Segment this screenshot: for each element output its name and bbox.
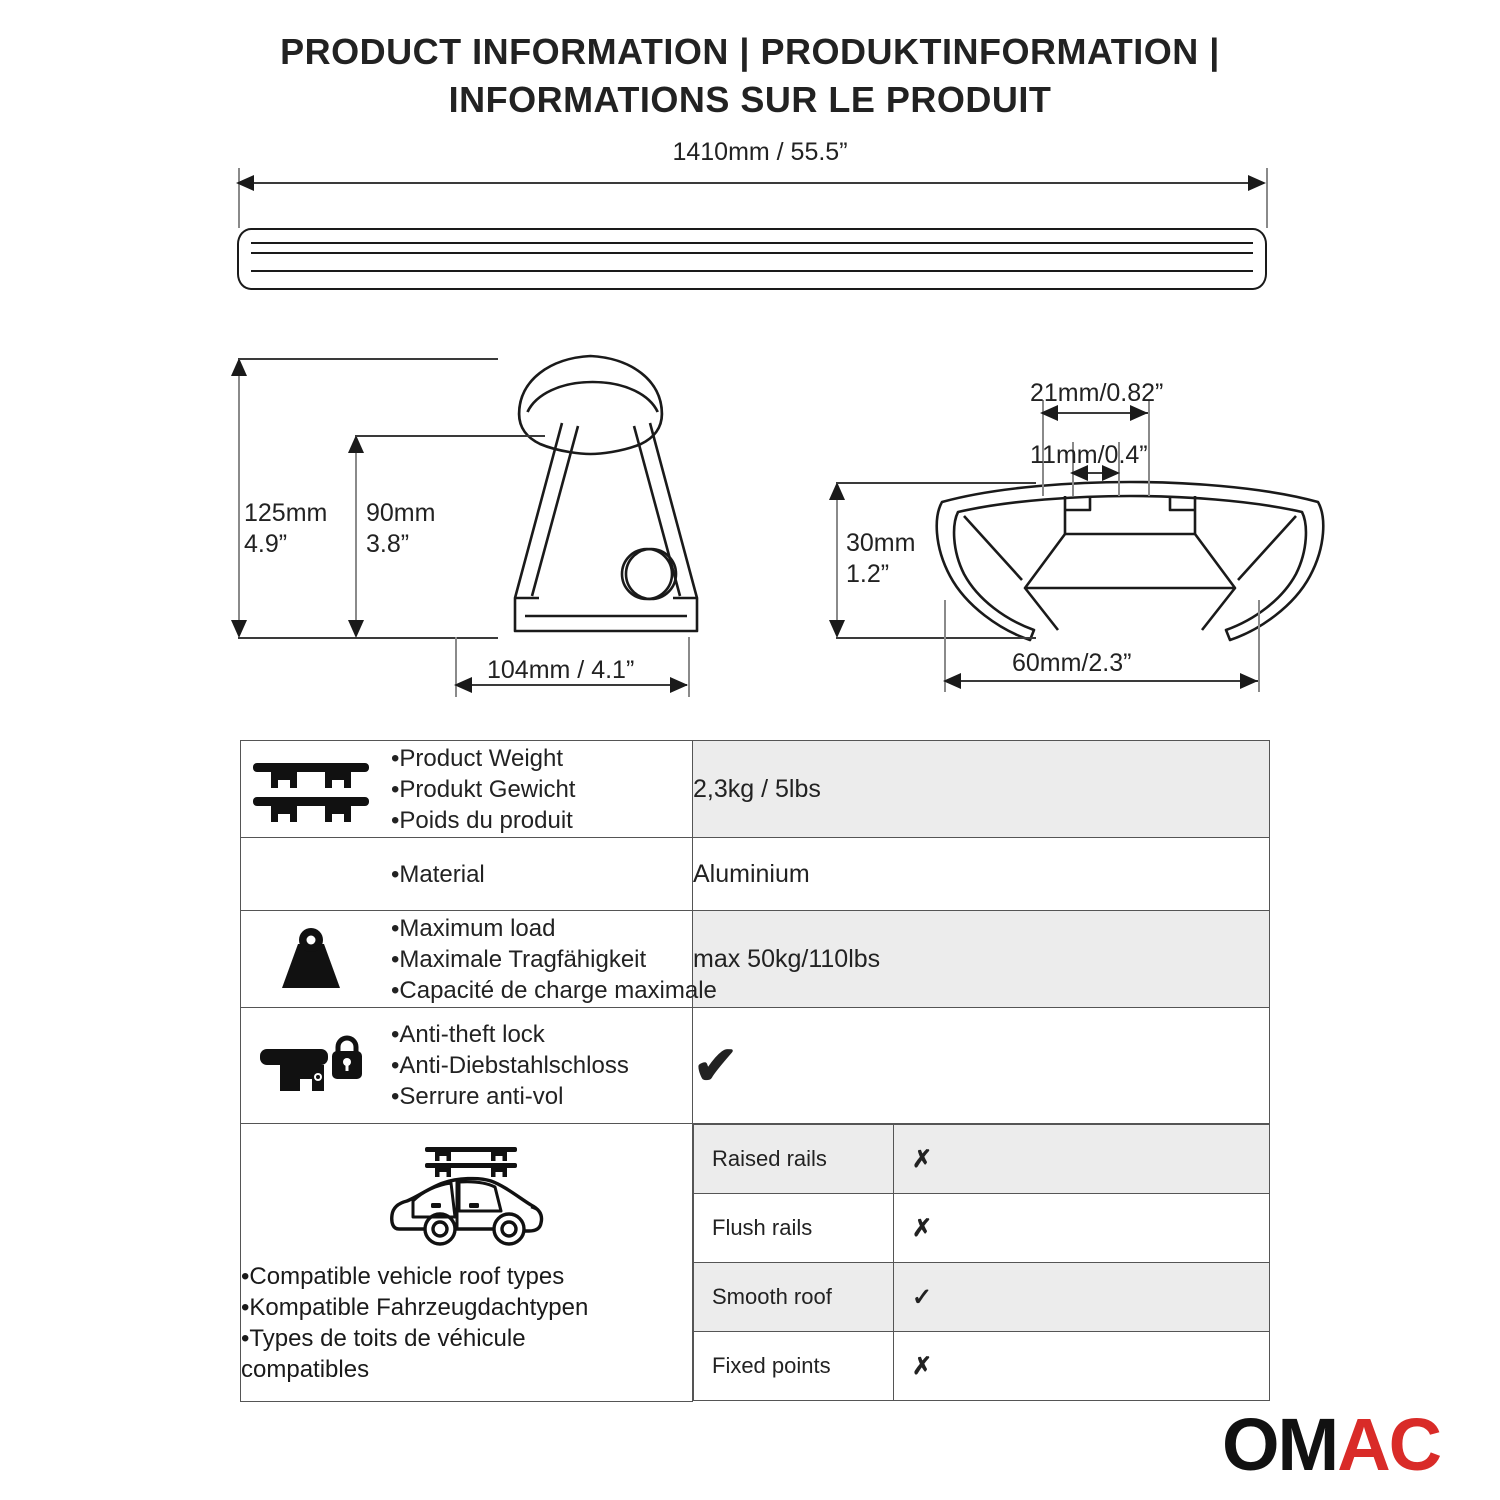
bullet-line: •Serrure anti-vol (391, 1081, 629, 1112)
foot-height-total-label: 125mm 4.9” (244, 498, 327, 560)
roof-type-name: Fixed points (694, 1332, 894, 1401)
roof-type-name: Flush rails (694, 1194, 894, 1263)
bullet-line: compatibles (241, 1354, 692, 1385)
material-value-cell: Aluminium (693, 838, 1270, 911)
antitheft-value-cell: ✔ (693, 1008, 1270, 1124)
foot-inner-extension (355, 435, 545, 437)
maxload-label-cell: •Maximum load •Maximale Tragfähigkeit •C… (241, 911, 693, 1008)
roof-type-row: Smooth roof ✓ (694, 1263, 1270, 1332)
foot-width-extension-right (688, 637, 690, 697)
arrow-right-icon (670, 677, 688, 693)
profile-top-extension (836, 482, 1036, 484)
lock-icon (241, 1035, 381, 1097)
bar-groove-3 (251, 270, 1253, 272)
profile-width-dimension-line (946, 680, 1258, 682)
length-dimension-label: 1410mm / 55.5” (560, 138, 960, 167)
foot-height-dimension-line (238, 360, 240, 632)
table-row: •Maximum load •Maximale Tragfähigkeit •C… (241, 911, 1270, 1008)
arrow-left-icon (943, 673, 961, 689)
table-row: •Product Weight •Produkt Gewicht •Poids … (241, 741, 1270, 838)
antitheft-bullets: •Anti-theft lock •Anti-Diebstahlschloss … (391, 1019, 629, 1112)
bullet-line: •Types de toits de véhicule (241, 1323, 692, 1354)
profile-height-label: 30mm 1.2” (846, 528, 915, 590)
roof-type-support-icon: ✗ (894, 1125, 1270, 1194)
arrow-left-icon (454, 677, 472, 693)
page-title: PRODUCT INFORMATION | PRODUKTINFORMATION… (250, 28, 1250, 124)
roof-types-table: Raised rails ✗ Flush rails ✗ Smooth roof… (693, 1124, 1270, 1401)
foot-top-extension (238, 358, 498, 360)
slot-inner-label: 11mm/0.4” (1030, 440, 1148, 471)
omac-logo: OMAC (1222, 1408, 1440, 1482)
bullet-line: •Compatible vehicle roof types (241, 1261, 692, 1292)
table-row: •Material Aluminium (241, 838, 1270, 911)
bullet-line: •Poids du produit (391, 805, 575, 836)
arrow-left-icon (236, 175, 254, 191)
foot-height-inner-label: 90mm 3.8” (366, 498, 435, 560)
foot-width-label: 104mm / 4.1” (487, 655, 634, 686)
arrow-right-icon (1240, 673, 1258, 689)
arrow-down-icon (348, 620, 364, 638)
bullet-line: •Material (391, 859, 485, 890)
bar-groove-2 (251, 252, 1253, 254)
logo-text-ac: AC (1337, 1403, 1440, 1486)
material-label-cell: •Material (241, 838, 693, 911)
roof-type-row: Flush rails ✗ (694, 1194, 1270, 1263)
roof-type-name: Smooth roof (694, 1263, 894, 1332)
profile-height-dimension-line (836, 484, 838, 632)
roof-type-row: Raised rails ✗ (694, 1125, 1270, 1194)
profile-width-extension-right (1258, 600, 1260, 692)
maxload-value-cell: max 50kg/110lbs (693, 911, 1270, 1008)
foot-inner-height-dimension-line (355, 437, 357, 632)
maxload-bullets: •Maximum load •Maximale Tragfähigkeit •C… (391, 913, 717, 1006)
slot-outer-extension-right (1148, 400, 1150, 496)
profile-bottom-extension (836, 637, 1036, 639)
antitheft-label-cell: •Anti-theft lock •Anti-Diebstahlschloss … (241, 1008, 693, 1124)
roof-type-row: Fixed points ✗ (694, 1332, 1270, 1401)
crossbars-icon (241, 755, 381, 823)
roof-type-name: Raised rails (694, 1125, 894, 1194)
material-bullets: •Material (391, 859, 485, 890)
bullet-line: •Maximale Tragfähigkeit (391, 944, 717, 975)
slot-outer-label: 21mm/0.82” (1030, 378, 1163, 409)
page-title-line-1: PRODUCT INFORMATION | PRODUKTINFORMATION… (250, 28, 1250, 76)
crossbar-side-view (237, 228, 1267, 290)
product-information-sheet: PRODUCT INFORMATION | PRODUKTINFORMATION… (0, 0, 1500, 1500)
bullet-line: •Capacité de charge maximale (391, 975, 717, 1006)
check-icon: ✔ (693, 1036, 738, 1096)
bullet-line: •Kompatible Fahrzeugdachtypen (241, 1292, 692, 1323)
bullet-line: •Maximum load (391, 913, 717, 944)
arrow-up-icon (231, 358, 247, 376)
weight-label-cell: •Product Weight •Produkt Gewicht •Poids … (241, 741, 693, 838)
bullet-line: •Produkt Gewicht (391, 774, 575, 805)
table-row: •Anti-theft lock •Anti-Diebstahlschloss … (241, 1008, 1270, 1124)
roof-type-support-icon: ✗ (894, 1194, 1270, 1263)
rooftypes-value-cell: Raised rails ✗ Flush rails ✗ Smooth roof… (693, 1124, 1270, 1402)
weight-icon (241, 926, 381, 992)
logo-text-om: OM (1222, 1403, 1337, 1486)
length-dimension-line (240, 182, 1264, 184)
specification-table: •Product Weight •Produkt Gewicht •Poids … (240, 740, 1270, 1402)
roof-type-support-icon: ✓ (894, 1263, 1270, 1332)
bullet-line: •Anti-theft lock (391, 1019, 629, 1050)
bullet-line: •Anti-Diebstahlschloss (391, 1050, 629, 1081)
profile-width-label: 60mm/2.3” (1012, 648, 1131, 679)
weight-value-cell: 2,3kg / 5lbs (693, 741, 1270, 838)
arrow-down-icon (829, 620, 845, 638)
roof-type-support-icon: ✗ (894, 1332, 1270, 1401)
arrow-down-icon (231, 620, 247, 638)
rooftypes-bullets: •Compatible vehicle roof types •Kompatib… (241, 1261, 692, 1385)
foot-bottom-extension (238, 637, 498, 639)
car-with-rack-icon (241, 1141, 692, 1253)
page-title-line-2: INFORMATIONS SUR LE PRODUIT (250, 76, 1250, 124)
arrow-right-icon (1248, 175, 1266, 191)
bullet-line: •Product Weight (391, 743, 575, 774)
weight-bullets: •Product Weight •Produkt Gewicht •Poids … (391, 743, 575, 836)
rooftypes-label-cell: •Compatible vehicle roof types •Kompatib… (241, 1124, 693, 1402)
arrow-up-icon (829, 482, 845, 500)
table-row: •Compatible vehicle roof types •Kompatib… (241, 1124, 1270, 1402)
arrow-up-icon (348, 435, 364, 453)
bar-groove-1 (251, 242, 1253, 244)
length-extension-right (1266, 168, 1268, 228)
